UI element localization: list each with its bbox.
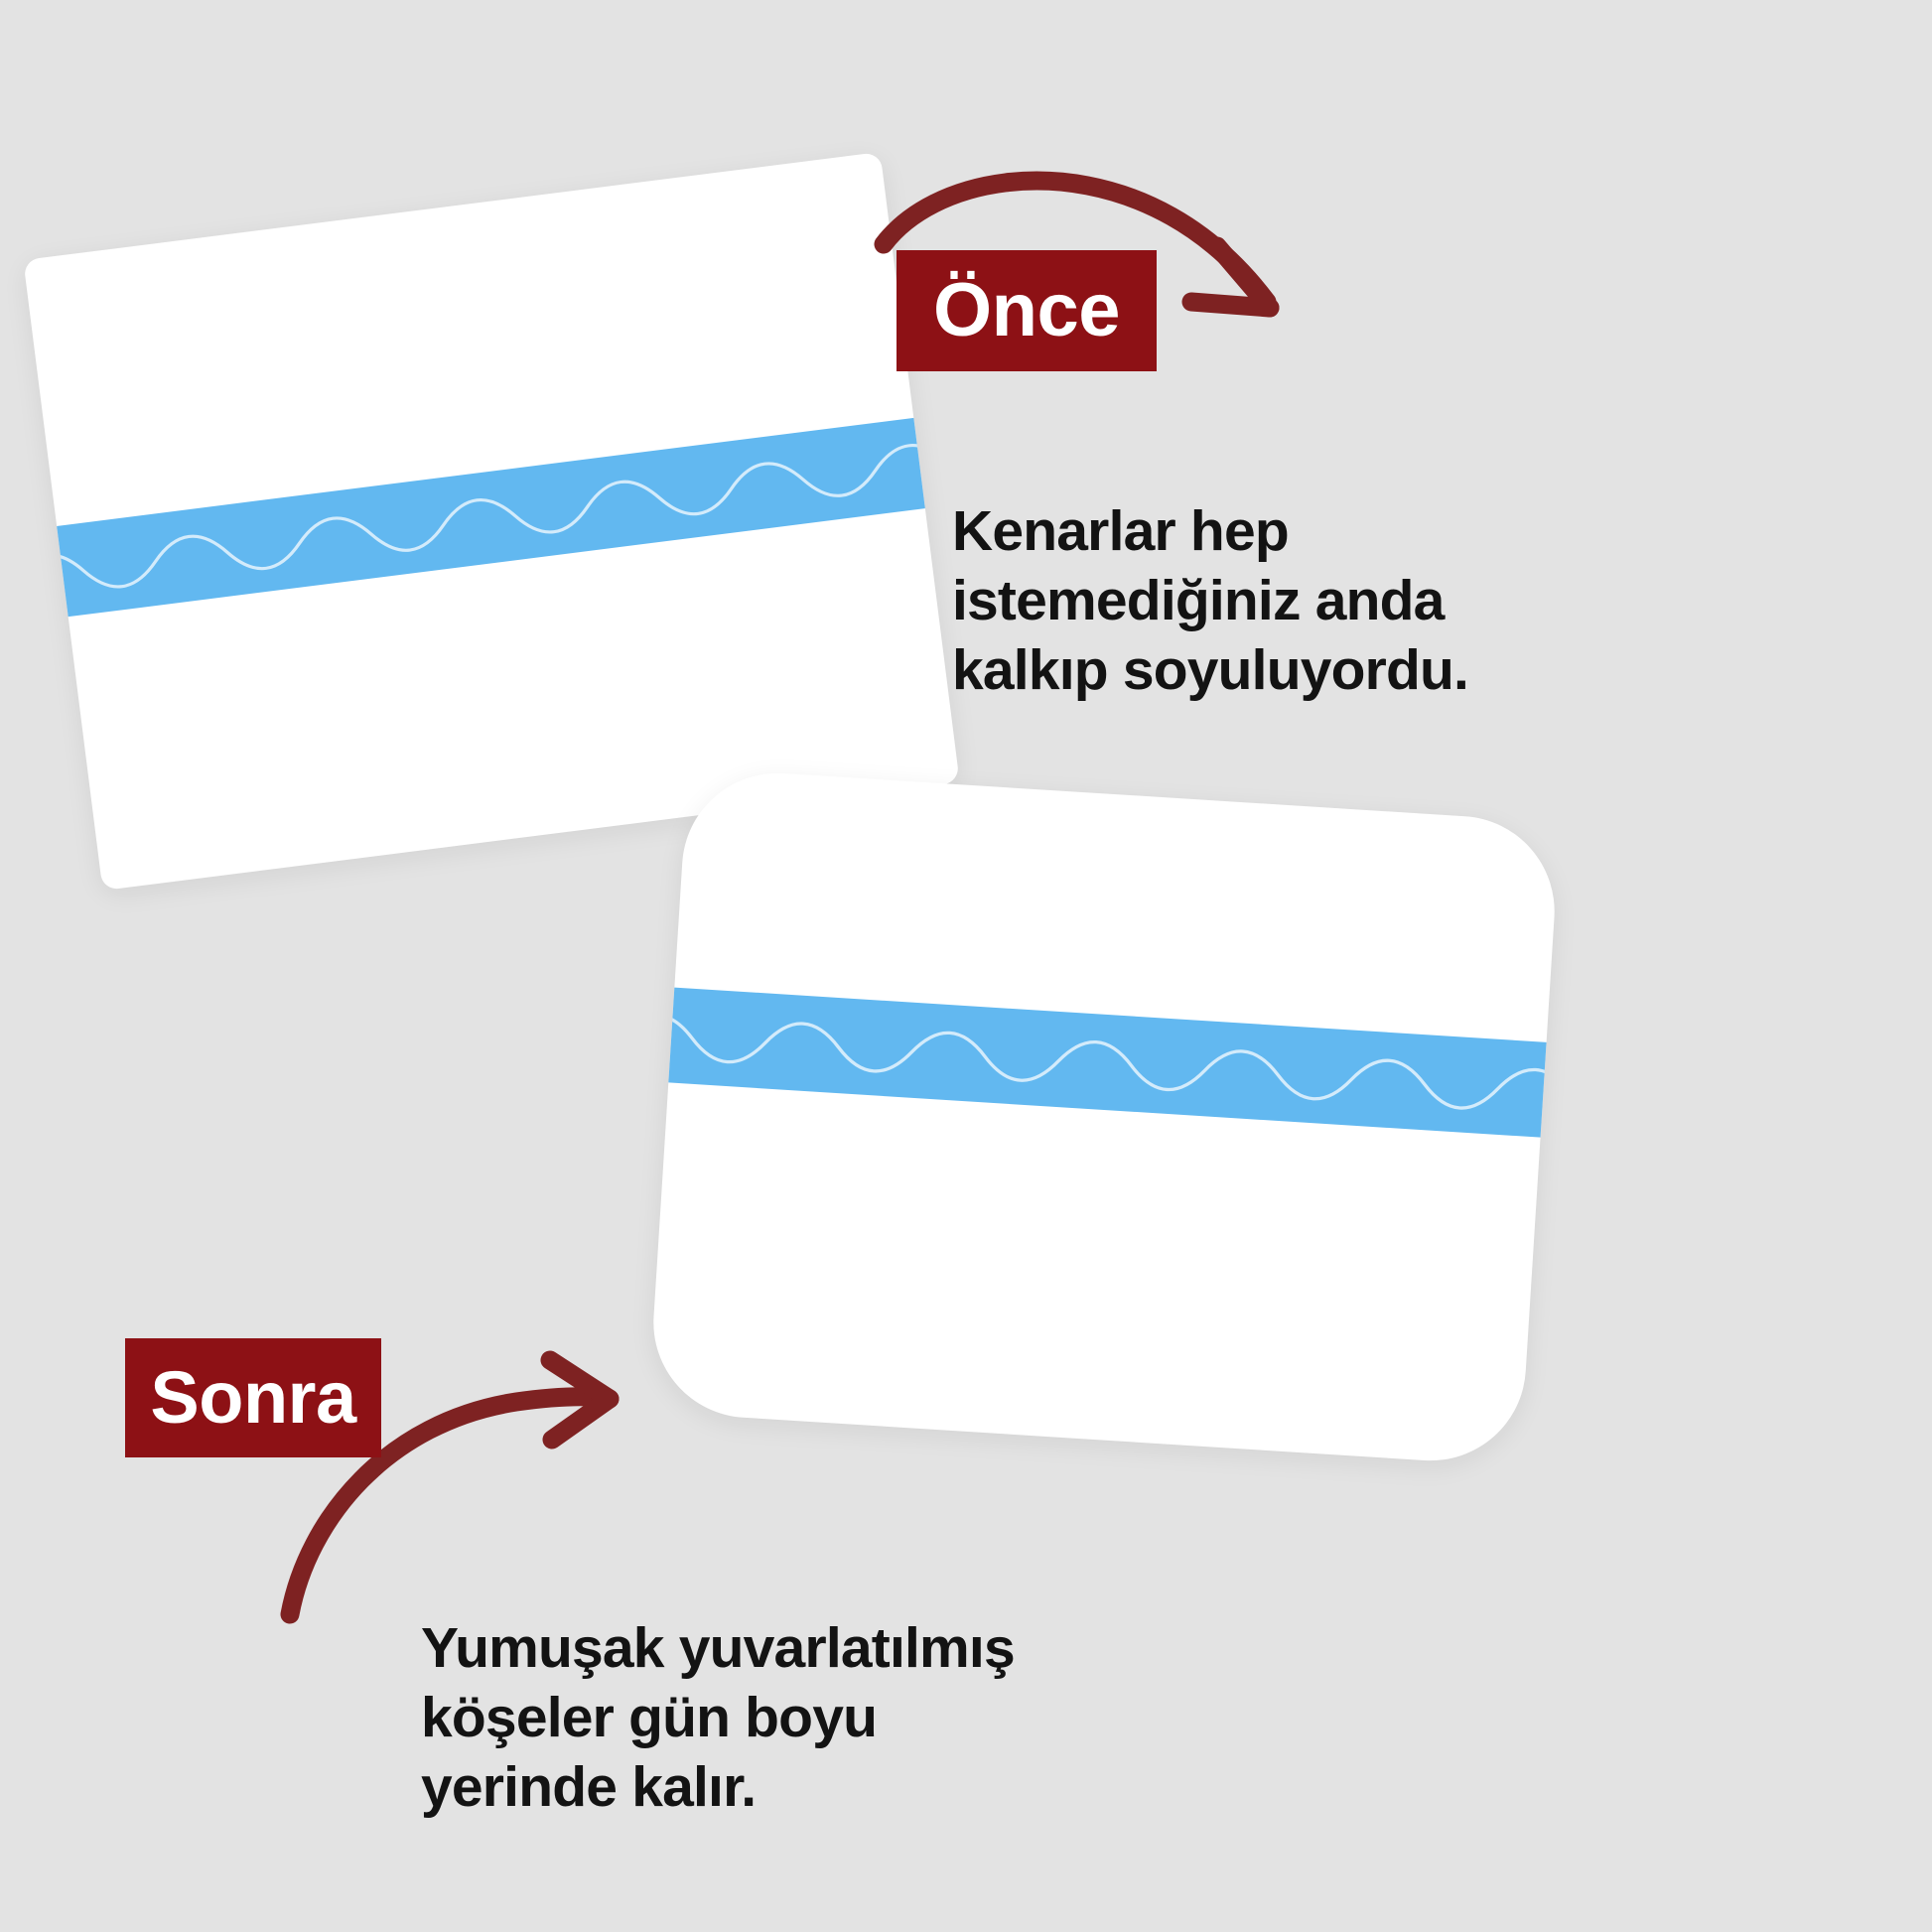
badge-before-label: Önce <box>933 273 1120 348</box>
badge-before: Önce <box>897 250 1157 371</box>
badge-after-label: Sonra <box>150 1361 355 1435</box>
after-card-rounded-corners <box>647 767 1560 1466</box>
wave-line-icon <box>647 984 1560 1141</box>
after-card-blue-stripe <box>647 984 1560 1141</box>
wave-line-icon <box>23 411 959 622</box>
before-card-blue-stripe <box>23 411 959 622</box>
caption-after: Yumuşak yuvarlatılmış köşeler gün boyu y… <box>421 1613 1136 1822</box>
comparison-graphic: Önce Sonra Kenarlar hep istemediğiniz an… <box>0 0 1932 1932</box>
caption-before: Kenarlar hep istemediğiniz anda kalkıp s… <box>952 496 1587 705</box>
badge-after: Sonra <box>125 1338 381 1457</box>
